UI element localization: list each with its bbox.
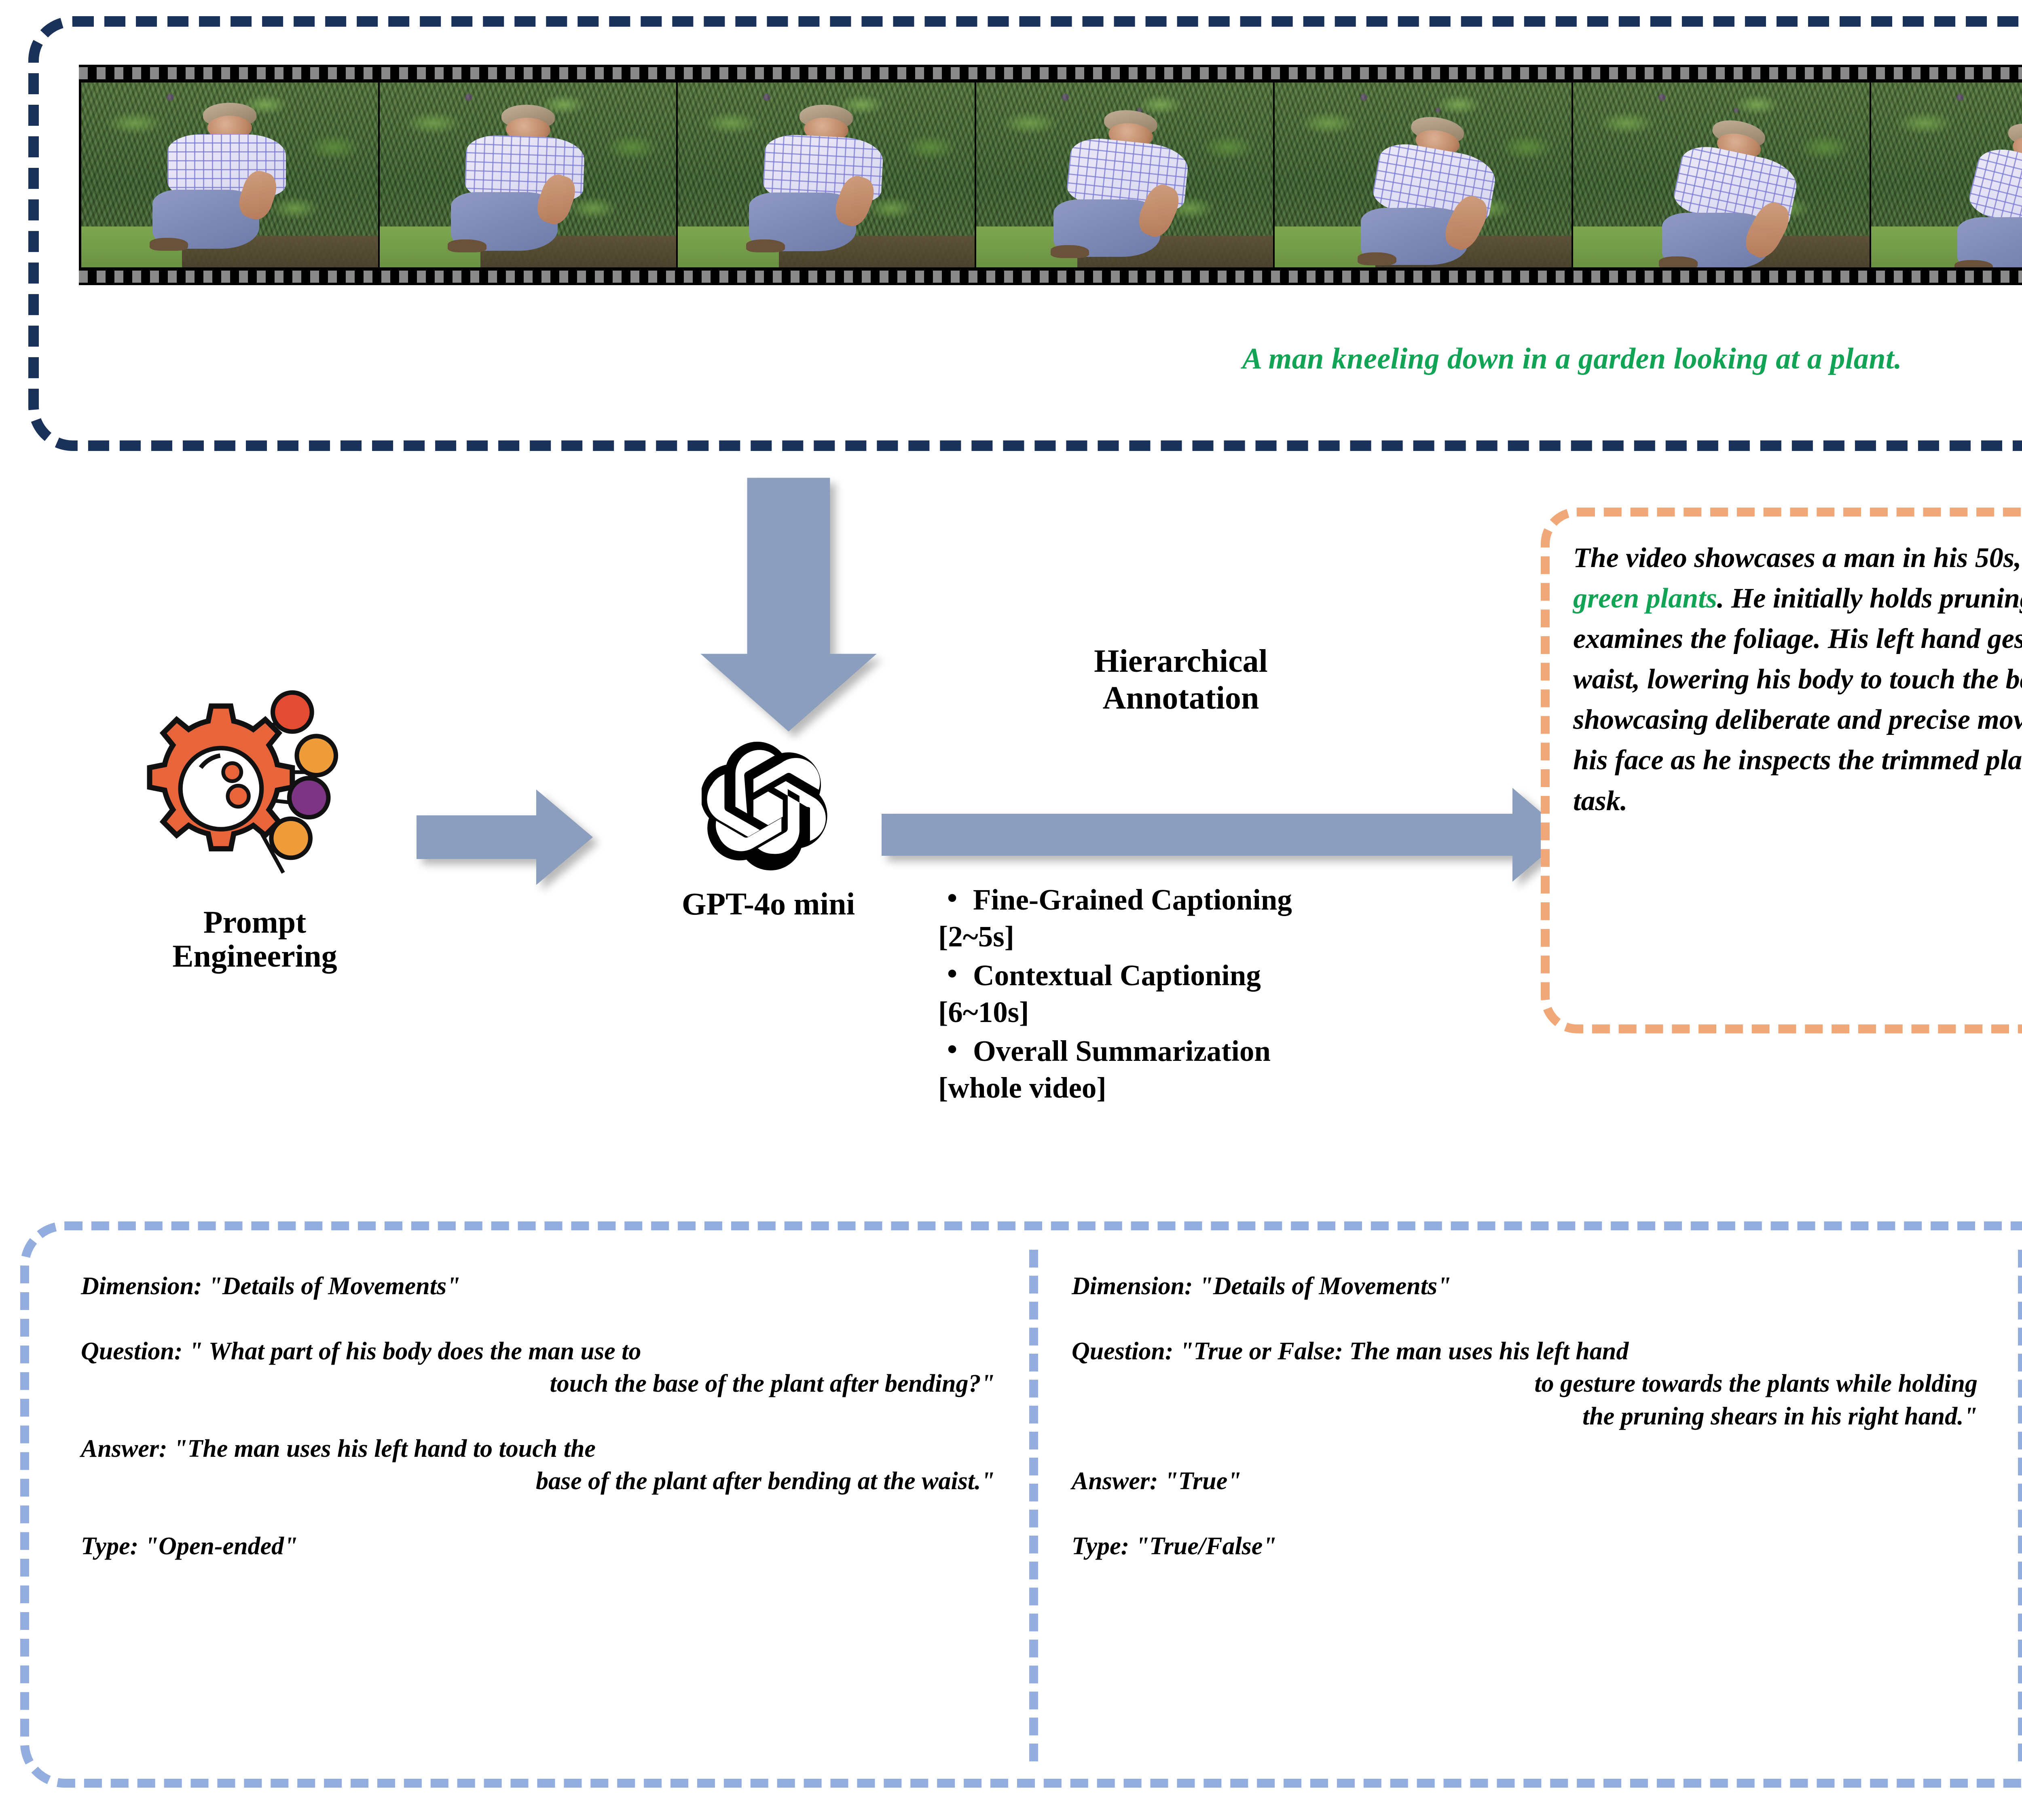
qa-card: Dimension: "Details of Movements" Questi… [81, 1270, 995, 1563]
arrow-video-to-model [659, 475, 918, 734]
shoe [746, 239, 785, 252]
person-figure [976, 83, 1273, 267]
video-description: The video showcases a man in his 50s, dr… [1573, 538, 2022, 821]
hierarchical-annotation-title: Hierarchical Annotation [942, 643, 1419, 717]
video-frame [976, 83, 1273, 267]
qa-card: Dimension: "Details of Movements" Questi… [1072, 1270, 1978, 1563]
qa-question-line2: to gesture towards the plants while hold… [1072, 1367, 1978, 1400]
qa-answer: Answer: "The man uses his left hand to t… [81, 1433, 995, 1498]
qa-question-line2: touch the base of the plant after bendin… [81, 1367, 995, 1400]
qa-type: Type: "Open-ended" [81, 1530, 995, 1563]
shoe [150, 238, 188, 251]
hierarchical-annotation-list: Fine-Grained Captioning[2~5s]Contextual … [938, 882, 1529, 1109]
shoe [1051, 245, 1089, 258]
hier-title-line2: Annotation [942, 680, 1419, 717]
hier-title-line1: Hierarchical [942, 643, 1419, 680]
shoe [448, 239, 486, 252]
video-frame [1275, 83, 1571, 267]
video-frame [1871, 83, 2022, 267]
qa-question: Question: "True or False: The man uses h… [1072, 1335, 1978, 1433]
annotation-list-item: Overall Summarization[whole video] [938, 1033, 1529, 1106]
qa-model-block: DeepSeek [2006, 1052, 2022, 1208]
annotation-list-item: Fine-Grained Captioning[2~5s] [938, 882, 1529, 955]
annotation-item-range: [whole video] [938, 1070, 1529, 1107]
annotation-list-item: Contextual Captioning[6~10s] [938, 957, 1529, 1031]
description-part1: The video showcases a man in his 50s, dr… [1573, 542, 2022, 574]
shoe [1358, 252, 1396, 265]
person-figure [380, 83, 677, 267]
person-figure [1871, 83, 2022, 267]
arrow-model-to-annotation [882, 785, 1569, 886]
annotation-item-label: Contextual Captioning [973, 959, 1261, 992]
prompt-label-line1: Prompt [73, 905, 437, 939]
video-caption: A man kneeling down in a garden looking … [79, 342, 2022, 376]
qa-column-divider-1 [1029, 1250, 1038, 1761]
qa-question-line1: Question: " What part of his body does t… [81, 1337, 641, 1365]
annotation-item-range: [2~5s] [938, 918, 1529, 955]
video-frame [1573, 83, 1870, 267]
person-figure [678, 83, 975, 267]
shoe [1659, 256, 1697, 267]
video-frame [380, 83, 677, 267]
prompt-label-line2: Engineering [73, 939, 437, 973]
qa-dimension: Dimension: "Details of Movements" [1072, 1270, 1978, 1303]
qa-answer-line2: base of the plant after bending at the w… [81, 1465, 995, 1498]
qa-type: Type: "True/False" [1072, 1530, 1978, 1563]
qa-question-line1: Question: "True or False: The man uses h… [1072, 1337, 1629, 1365]
film-perforations-bottom [79, 271, 2022, 283]
openai-logo-icon [702, 740, 835, 874]
qa-question-line3: the pruning shears in his right hand." [1072, 1400, 1978, 1433]
person-figure [81, 83, 378, 267]
qa-answer-line1: Answer: "The man uses his left hand to t… [81, 1435, 596, 1462]
model-label: GPT-4o mini [586, 886, 950, 922]
qa-model-label: DeepSeek [2006, 1171, 2022, 1208]
qa-question: Question: " What part of his body does t… [81, 1335, 995, 1400]
arrow-prompt-to-model [417, 785, 594, 890]
annotation-item-range: [6~10s] [938, 994, 1529, 1031]
video-frame-list [81, 83, 2022, 267]
video-frame [81, 83, 378, 267]
annotation-item-label: Fine-Grained Captioning [973, 883, 1292, 916]
prompt-engineering-label: Prompt Engineering [73, 905, 437, 973]
qa-column-divider-2 [2018, 1250, 2022, 1761]
description-part2: . He initially holds pruning shears in h… [1573, 583, 2022, 816]
filmstrip [79, 65, 2022, 285]
qa-answer: Answer: "True" [1072, 1465, 1978, 1498]
annotation-item-label: Overall Summarization [973, 1035, 1271, 1067]
gear-network-icon [142, 684, 368, 894]
person-figure [1573, 83, 1870, 267]
person-figure [1275, 83, 1571, 267]
film-perforations-top [79, 67, 2022, 79]
video-frame [678, 83, 975, 267]
qa-dimension: Dimension: "Details of Movements" [81, 1270, 995, 1303]
prompt-engineering-block: Prompt Engineering [73, 684, 437, 973]
